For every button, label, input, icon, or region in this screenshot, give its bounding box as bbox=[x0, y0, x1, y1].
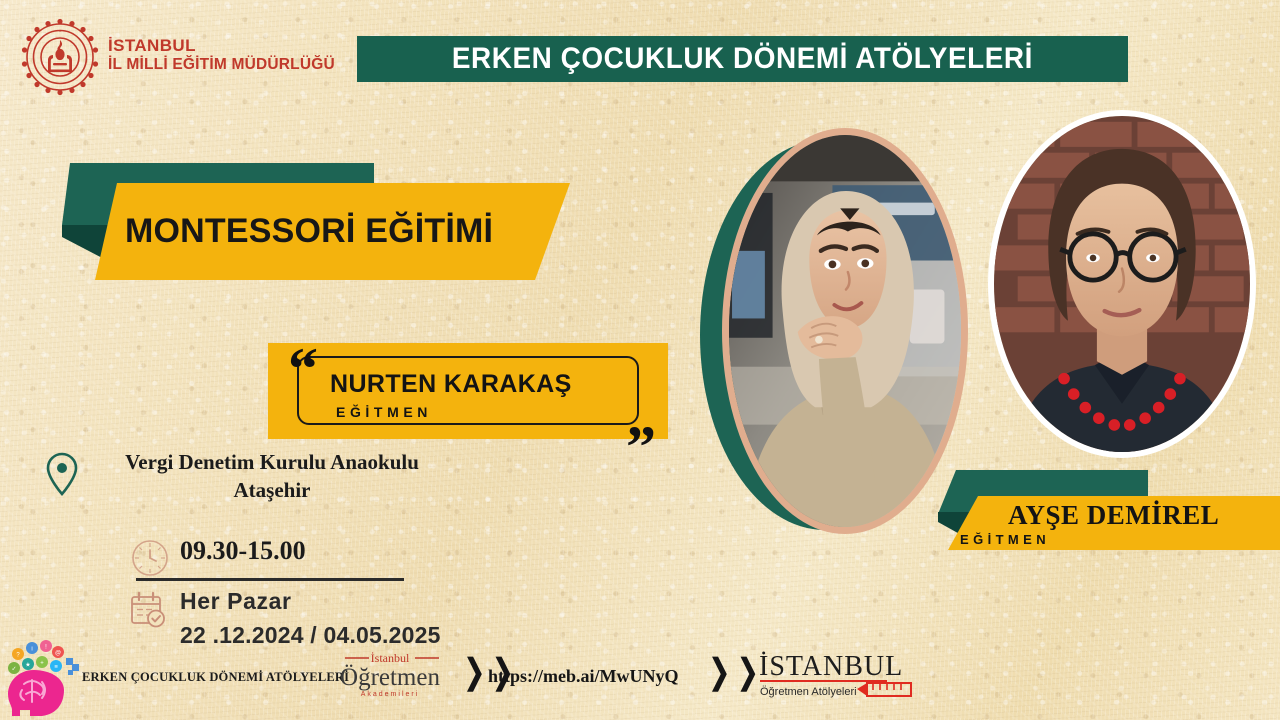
svg-text:✓: ✓ bbox=[11, 667, 16, 673]
svg-text:İstanbul: İstanbul bbox=[371, 651, 410, 665]
svg-text:Öğretmen Atölyeleri: Öğretmen Atölyeleri bbox=[760, 686, 857, 698]
institution-line1: İSTANBUL bbox=[108, 36, 335, 56]
speaker-card-nurten-karakas: “ ” NURTEN KARAKAŞ EĞİTMEN bbox=[268, 343, 668, 439]
ogretmen-akademileri-logo: İstanbul Öğretmen Akademileri bbox=[327, 646, 453, 700]
svg-text:Akademileri: Akademileri bbox=[361, 691, 420, 698]
registration-url[interactable]: https://meb.ai/MwUNyQ bbox=[488, 666, 679, 687]
quote-open-icon: “ bbox=[288, 339, 318, 399]
venue-line2: Ataşehir bbox=[92, 476, 452, 504]
institution-line2: İL MİLLİ EĞİTİM MÜDÜRLÜĞÜ bbox=[108, 56, 335, 74]
main-title-text: ERKEN ÇOCUKLUK DÖNEMİ ATÖLYELERİ bbox=[452, 42, 1033, 76]
map-pin-icon bbox=[44, 452, 80, 496]
speaker-name: AYŞE DEMİREL bbox=[1008, 500, 1219, 531]
poster-canvas: ★ İSTANBUL İL MİLLİ EĞİTİM MÜDÜRLÜĞÜ ERK… bbox=[0, 0, 1280, 720]
svg-text:@: @ bbox=[55, 651, 61, 657]
speaker-role: EĞİTMEN bbox=[336, 404, 432, 420]
event-date-range: 22 .12.2024 / 04.05.2025 bbox=[180, 622, 441, 649]
topic-banner: MONTESSORİ EĞİTİMİ bbox=[95, 183, 570, 280]
svg-text:+: + bbox=[40, 661, 44, 667]
event-recurrence: Her Pazar bbox=[180, 588, 292, 615]
speaker-photo-ayse-demirel bbox=[988, 110, 1256, 458]
speaker-card-ayse-demirel: AYŞE DEMİREL EĞİTMEN bbox=[948, 496, 1280, 550]
svg-text:★: ★ bbox=[25, 662, 30, 669]
svg-text:★: ★ bbox=[58, 29, 61, 33]
venue-address: Vergi Denetim Kurulu Anaokulu Ataşehir bbox=[92, 448, 452, 505]
main-title-banner: ERKEN ÇOCUKLUK DÖNEMİ ATÖLYELERİ bbox=[357, 36, 1128, 82]
venue-line1: Vergi Denetim Kurulu Anaokulu bbox=[92, 448, 452, 476]
event-time: 09.30-15.00 bbox=[180, 536, 306, 566]
divider bbox=[136, 578, 404, 581]
brain-idea-icon: ?i !@ ✓★ +≡ bbox=[2, 640, 80, 716]
footer-program-label: ERKEN ÇOCUKLUK DÖNEMİ ATÖLYELERİ bbox=[82, 670, 349, 685]
ruler-icon bbox=[857, 683, 911, 696]
svg-text:i: i bbox=[31, 647, 32, 653]
speaker-role: EĞİTMEN bbox=[960, 532, 1050, 547]
clock-icon bbox=[130, 538, 170, 578]
svg-text:İSTANBUL: İSTANBUL bbox=[759, 651, 903, 682]
institution-name: İSTANBUL İL MİLLİ EĞİTİM MÜDÜRLÜĞÜ bbox=[108, 36, 335, 74]
istanbul-ogretmen-atolyeleri-logo: İSTANBUL Öğretmen Atölyeleri bbox=[755, 647, 915, 701]
svg-text:Öğretmen: Öğretmen bbox=[340, 664, 440, 691]
double-chevron-right-icon: ❭❭ bbox=[705, 656, 762, 690]
quote-close-icon: ” bbox=[626, 417, 656, 477]
speaker-name: NURTEN KARAKAŞ bbox=[330, 370, 572, 399]
topic-title: MONTESSORİ EĞİTİMİ bbox=[125, 212, 493, 251]
calendar-check-icon bbox=[128, 590, 168, 630]
meb-emblem-icon: ★ bbox=[18, 18, 102, 96]
svg-text:≡: ≡ bbox=[54, 665, 58, 671]
speaker-photo-nurten-karakas bbox=[722, 128, 968, 534]
